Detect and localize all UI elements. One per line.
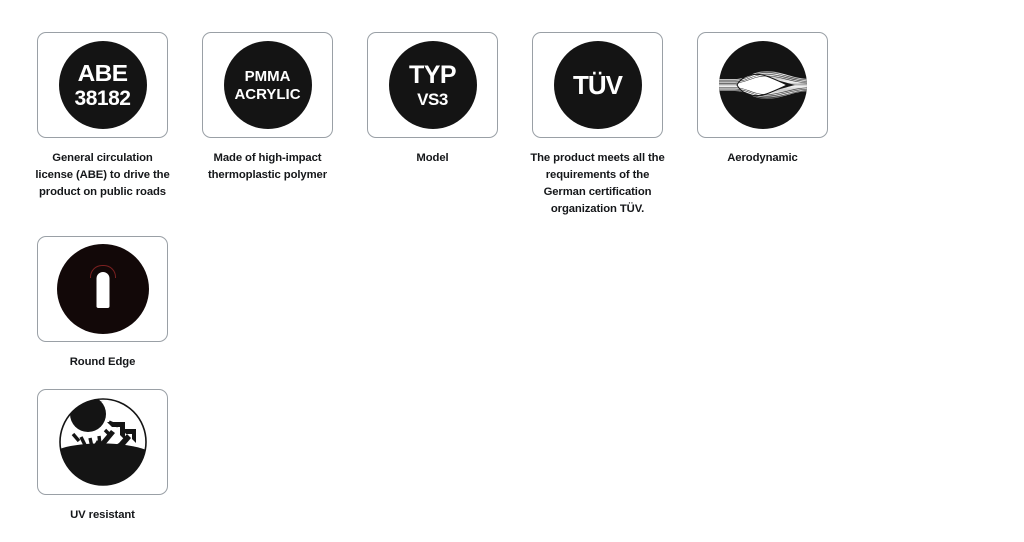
- abe-icon-text-top: ABE: [78, 62, 128, 85]
- badge-label-typ: Model: [365, 150, 501, 167]
- feature-item-round-edge[interactable]: Round Edge: [37, 236, 168, 371]
- badge-label-abe: General circulation license (ABE) to dri…: [35, 150, 171, 201]
- badge-card-tuv: TÜV: [532, 32, 663, 138]
- feature-item-tuv[interactable]: TÜV The product meets all the requiremen…: [532, 32, 663, 218]
- badge-label-round-edge: Round Edge: [35, 354, 171, 371]
- tuv-certification-icon: TÜV: [554, 41, 642, 129]
- typ-icon-text-top: TYP: [409, 63, 456, 88]
- tuv-icon-text-top: TÜV: [573, 72, 622, 98]
- feature-item-aerodynamic[interactable]: Aerodynamic: [697, 32, 828, 167]
- badge-card-round-edge: [37, 236, 168, 342]
- feature-item-abe[interactable]: ABE 38182 General circulation license (A…: [37, 32, 168, 201]
- feature-item-typ[interactable]: TYP VS3 Model: [367, 32, 498, 167]
- feature-badge-grid: ABE 38182 General circulation license (A…: [0, 0, 1024, 542]
- round-edge-profile-shape: [96, 272, 109, 308]
- badge-card-typ: TYP VS3: [367, 32, 498, 138]
- badge-label-aerodynamic: Aerodynamic: [695, 150, 831, 167]
- feature-item-uv-resistant[interactable]: UV resistant: [37, 389, 168, 524]
- pmma-icon-text-bottom: ACRYLIC: [234, 87, 300, 102]
- abe-icon-text-bottom: 38182: [75, 88, 131, 109]
- badge-label-uv-resistant: UV resistant: [35, 507, 171, 524]
- round-edge-icon: [57, 244, 149, 334]
- badge-card-uv-resistant: [37, 389, 168, 495]
- typ-icon-text-bottom: VS3: [417, 91, 448, 108]
- pmma-acrylic-icon: PMMA ACRYLIC: [224, 41, 312, 129]
- badge-card-abe: ABE 38182: [37, 32, 168, 138]
- pmma-icon-text-top: PMMA: [245, 69, 291, 84]
- abe-certification-icon: ABE 38182: [59, 41, 147, 129]
- badge-label-pmma: Made of high-impact thermoplastic polyme…: [200, 150, 336, 184]
- badge-label-tuv: The product meets all the requirements o…: [530, 150, 666, 218]
- uv-resistant-sun-icon: [59, 398, 147, 486]
- badge-card-pmma: PMMA ACRYLIC: [202, 32, 333, 138]
- aerodynamic-airflow-icon: [719, 41, 807, 129]
- badge-card-aerodynamic: [697, 32, 828, 138]
- feature-item-pmma[interactable]: PMMA ACRYLIC Made of high-impact thermop…: [202, 32, 333, 184]
- type-model-icon: TYP VS3: [389, 41, 477, 129]
